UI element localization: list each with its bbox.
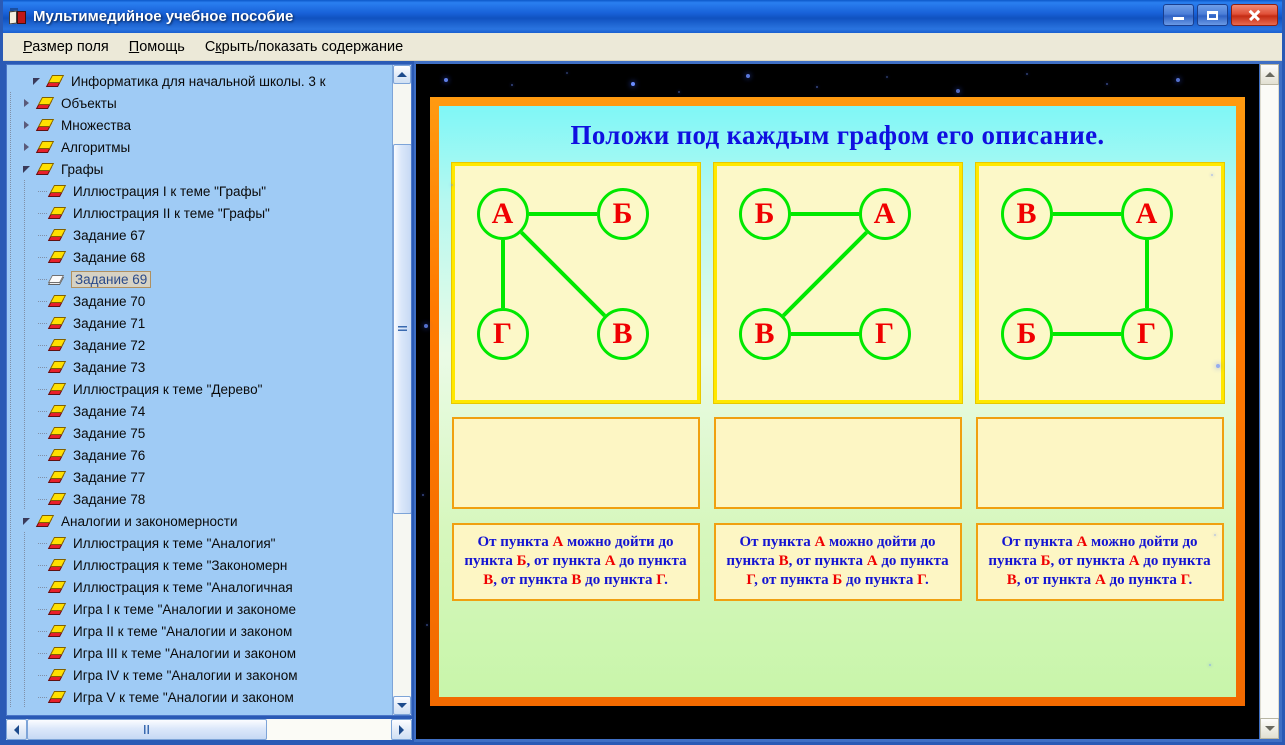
title-bar[interactable]: Мультимедийное учебное пособие [3, 0, 1282, 33]
slide-stage: Положи под каждым графом его описание. А… [416, 64, 1259, 739]
star-icon [1211, 174, 1213, 176]
tree-indent-guide [21, 180, 35, 202]
tree-indent-guide [7, 334, 21, 356]
book-closed-icon [49, 338, 66, 352]
tree-item[interactable]: Задание 76 [7, 444, 392, 466]
tree-indent-guide [21, 642, 35, 664]
tree-item[interactable]: Алгоритмы [7, 136, 392, 158]
tree-item-label: Иллюстрация II к теме "Графы" [71, 206, 272, 221]
description-point-letter: Б [832, 572, 842, 588]
content-scroll-track[interactable] [1260, 85, 1279, 718]
client-area: Информатика для начальной школы. 3 кОбъе… [3, 61, 1282, 742]
tree-item[interactable]: Информатика для начальной школы. 3 к [7, 70, 392, 92]
tree-item[interactable]: Иллюстрация к теме "Аналогия" [7, 532, 392, 554]
graph-node: А [1121, 188, 1173, 240]
graph-card[interactable]: ВАБГ [976, 163, 1224, 403]
chevron-right-icon [399, 725, 404, 735]
tree-indent-guide [7, 422, 21, 444]
star-icon [1216, 364, 1220, 368]
star-icon [631, 82, 635, 86]
book-closed-icon [49, 492, 66, 506]
tree-connector [35, 532, 49, 554]
tree-item[interactable]: Задание 71 [7, 312, 392, 334]
book-closed-icon [49, 558, 66, 572]
tree-item[interactable]: Игра I к теме "Аналогии и закономе [7, 598, 392, 620]
graph-node: А [477, 188, 529, 240]
tree-item-label: Задание 69 [71, 271, 151, 288]
tree-connector [35, 664, 49, 686]
description-point-letter: Г [746, 572, 754, 588]
tree-indent-guide [7, 136, 21, 158]
tree-indent-guide [7, 554, 21, 576]
tree-indent-guide [7, 268, 21, 290]
tree-connector [35, 246, 49, 268]
tree-scroll-right-button[interactable] [391, 719, 412, 740]
tree-indent-guide [21, 466, 35, 488]
tree-indent-guide [21, 224, 35, 246]
graph-node: Б [1001, 308, 1053, 360]
book-closed-icon [49, 382, 66, 396]
description-text: , от пункта [754, 572, 832, 588]
slide-body: Положи под каждым графом его описание. А… [439, 106, 1236, 697]
tree-item-label: Игра II к теме "Аналогии и законом [71, 624, 294, 639]
tree-item[interactable]: Задание 69 [7, 268, 392, 290]
book-closed-icon [49, 426, 66, 440]
tree-item[interactable]: Игра II к теме "Аналогии и законом [7, 620, 392, 642]
tree-item-label: Задание 77 [71, 470, 147, 485]
description-point-letter: В [571, 572, 581, 588]
tree-indent-guide [7, 532, 21, 554]
description-point-letter: Б [1041, 553, 1051, 569]
description-3[interactable]: От пункта А можно дойти до пункта Б, от … [976, 523, 1224, 601]
maximize-icon [1207, 11, 1218, 20]
star-icon [816, 86, 818, 88]
tree-item-label: Иллюстрация I к теме "Графы" [71, 184, 268, 199]
tree-connector [35, 642, 49, 664]
tree-item[interactable]: Иллюстрация к теме "Дерево" [7, 378, 392, 400]
graph-node: Г [477, 308, 529, 360]
tree-connector [35, 356, 49, 378]
tree-item[interactable]: Иллюстрация к теме "Аналогичная [7, 576, 392, 598]
tree-item-label: Игра V к теме "Аналогии и законом [71, 690, 296, 705]
tree-indent-guide [7, 158, 21, 180]
description-point-letter: А [867, 553, 878, 569]
tree-item[interactable]: Задание 77 [7, 466, 392, 488]
tree-indent-guide [7, 356, 21, 378]
menu-item-help[interactable]: Помощь [119, 36, 195, 58]
application-window: Мультимедийное учебное пособие Размер по… [0, 0, 1285, 745]
drop-zone-2[interactable] [714, 417, 962, 509]
book-icon [9, 8, 27, 26]
tree-item-label: Задание 67 [71, 228, 147, 243]
tree-connector [35, 488, 49, 510]
tree-connector [35, 554, 49, 576]
tree-indent-guide [21, 334, 35, 356]
book-closed-icon [37, 140, 54, 154]
tree-indent-guide [7, 664, 21, 686]
book-open-icon [49, 272, 66, 286]
tree-scroll-track[interactable] [393, 84, 411, 696]
tree-item[interactable]: Задание 68 [7, 246, 392, 268]
description-point-letter: Б [517, 553, 527, 569]
star-icon [1209, 664, 1211, 666]
tree-indent-guide [21, 620, 35, 642]
tree-indent-guide [21, 422, 35, 444]
description-1[interactable]: От пункта А можно дойти до пункта Б, от … [452, 523, 700, 601]
grip-icon [398, 326, 407, 333]
tree-scroll-down-button[interactable] [393, 696, 411, 715]
tree-scroll-left-button[interactable] [6, 719, 27, 740]
content-panel: Положи под каждым графом его описание. А… [414, 61, 1282, 742]
book-closed-icon [49, 316, 66, 330]
description-text: до пункта [878, 553, 949, 569]
tree-connector [35, 422, 49, 444]
book-closed-icon [49, 448, 66, 462]
book-closed-icon [37, 162, 54, 176]
tree-item-label: Множества [59, 118, 133, 133]
tree-item-label: Задание 73 [71, 360, 147, 375]
description-text: , от пункта [527, 553, 605, 569]
chevron-up-icon [1265, 72, 1275, 77]
description-text: , от пункта [789, 553, 867, 569]
tree-indent-guide [21, 664, 35, 686]
book-closed-icon [49, 250, 66, 264]
tree-item-label: Задание 72 [71, 338, 147, 353]
description-point-letter: А [1095, 572, 1106, 588]
tree-indent-guide [7, 510, 21, 532]
description-text: От пункта [739, 534, 814, 550]
menu-label-accel: Р [23, 39, 32, 55]
contents-panel: Информатика для начальной школы. 3 кОбъе… [3, 61, 414, 742]
tree-item[interactable]: Объекты [7, 92, 392, 114]
description-point-letter: Г [917, 572, 925, 588]
tree-item-label: Алгоритмы [59, 140, 132, 155]
graph-node: Г [1121, 308, 1173, 360]
tree-horizontal-scrollbar[interactable] [6, 719, 412, 740]
expander-expanded-icon[interactable] [21, 163, 34, 176]
tree-item[interactable]: Иллюстрация I к теме "Графы" [7, 180, 392, 202]
tree-indent-guide [7, 180, 21, 202]
star-icon [886, 76, 888, 78]
tree-connector [35, 378, 49, 400]
book-closed-icon [49, 580, 66, 594]
tree-indent-guide [7, 598, 21, 620]
graph-node: Г [859, 308, 911, 360]
tree-indent-guide [7, 686, 21, 708]
menu-label-post: рыть/показать содержание [222, 39, 404, 55]
tree-item[interactable]: Игра V к теме "Аналогии и законом [7, 686, 392, 708]
tree-item-label: Аналогии и закономерности [59, 514, 240, 529]
tree-indent-guide [21, 400, 35, 422]
description-text: , от пункта [1017, 572, 1095, 588]
description-text: до пункта [1140, 553, 1211, 569]
drop-zone-1[interactable] [452, 417, 700, 509]
graph-edge [783, 232, 866, 315]
description-point-letter: А [1129, 553, 1140, 569]
tree-connector [35, 224, 49, 246]
expander-collapsed-icon[interactable] [21, 97, 34, 110]
description-text: до пункта [581, 572, 656, 588]
tree-scroll-up-button[interactable] [393, 65, 411, 84]
tree-indent-guide [21, 444, 35, 466]
grip-icon [144, 725, 151, 734]
tree-indent-guide [21, 356, 35, 378]
description-point-letter: В [483, 572, 493, 588]
chevron-down-icon [397, 703, 407, 708]
tree-indent-guide [7, 224, 21, 246]
tree-indent-guide [7, 202, 21, 224]
tree-item[interactable]: Задание 70 [7, 290, 392, 312]
tree-item[interactable]: Аналогии и закономерности [7, 510, 392, 532]
star-icon [451, 184, 453, 186]
close-button[interactable] [1231, 4, 1278, 26]
star-icon [424, 324, 428, 328]
book-closed-icon [49, 294, 66, 308]
book-closed-icon [37, 118, 54, 132]
star-icon [511, 84, 513, 86]
star-icon [566, 72, 568, 74]
tree-item[interactable]: Задание 67 [7, 224, 392, 246]
tree-item[interactable]: Множества [7, 114, 392, 136]
book-closed-icon [49, 690, 66, 704]
description-text: От пункта [1001, 534, 1076, 550]
tree-indent-guide [7, 466, 21, 488]
tree-item-label: Иллюстрация к теме "Аналогия" [71, 536, 277, 551]
menu-label-accel: П [129, 39, 139, 55]
tree-view[interactable]: Информатика для начальной школы. 3 кОбъе… [6, 64, 412, 716]
tree-connector [35, 180, 49, 202]
book-closed-icon [47, 74, 64, 88]
tree-connector [35, 312, 49, 334]
chevron-left-icon [14, 725, 19, 735]
tree-item[interactable]: Иллюстрация II к теме "Графы" [7, 202, 392, 224]
drop-zones-row [451, 417, 1224, 509]
menu-item-toggle-contents[interactable]: Скрыть/показать содержание [195, 36, 413, 58]
tree-scroll-thumb[interactable] [393, 144, 412, 514]
tree-item[interactable]: Задание 72 [7, 334, 392, 356]
tree-indent-guide [21, 532, 35, 554]
book-closed-icon [49, 624, 66, 638]
expander-expanded-icon[interactable] [21, 515, 34, 528]
minimize-button[interactable] [1163, 4, 1194, 26]
tree-item-label: Графы [59, 162, 105, 177]
description-point-letter: В [1007, 572, 1017, 588]
book-closed-icon [49, 646, 66, 660]
description-point-letter: В [779, 553, 789, 569]
tree-connector [35, 598, 49, 620]
tree-item[interactable]: Игра IV к теме "Аналогии и законом [7, 664, 392, 686]
chevron-down-icon [1265, 726, 1275, 731]
tree-connector [35, 620, 49, 642]
tree-item-label: Задание 70 [71, 294, 147, 309]
tree-connector [35, 334, 49, 356]
graph-card[interactable]: АБГВ [452, 163, 700, 403]
tree-vertical-scrollbar[interactable] [392, 65, 411, 715]
menu-label-post: омощь [139, 39, 185, 55]
star-icon [1176, 78, 1180, 82]
tree-connector [35, 444, 49, 466]
menu-item-field-size[interactable]: Размер поля [13, 36, 119, 58]
tree-item[interactable]: Иллюстрация к теме "Закономерн [7, 554, 392, 576]
tree-hscroll-thumb[interactable] [27, 719, 267, 740]
star-icon [444, 78, 448, 82]
star-icon [956, 89, 960, 93]
tree-indent-guide [21, 268, 35, 290]
tree-item[interactable]: Задание 75 [7, 422, 392, 444]
star-icon [1214, 534, 1216, 536]
description-text: до пункта [616, 553, 687, 569]
description-point-letter: А [605, 553, 616, 569]
tree-item[interactable]: Графы [7, 158, 392, 180]
tree-connector [35, 202, 49, 224]
descriptions-row: От пункта А можно дойти до пункта Б, от … [451, 523, 1224, 601]
content-scroll-down-button[interactable] [1260, 718, 1279, 739]
description-point-letter: А [814, 534, 825, 550]
graph-node: В [739, 308, 791, 360]
expander-expanded-icon[interactable] [31, 75, 44, 88]
star-icon [746, 74, 750, 78]
description-text: , от пункта [493, 572, 571, 588]
tree-indent-guide [21, 378, 35, 400]
tree-indent-guide [7, 290, 21, 312]
tree-indent-guide [7, 246, 21, 268]
tree-item-label: Задание 71 [71, 316, 147, 331]
tree-indent-guide [21, 598, 35, 620]
tree-item-label: Задание 68 [71, 250, 147, 265]
tree-connector [35, 290, 49, 312]
graphs-row: АБГВБАВГВАБГ [451, 163, 1224, 403]
maximize-button[interactable] [1197, 4, 1228, 26]
tree-indent-guide [21, 202, 35, 224]
tree-indent-guide [7, 114, 21, 136]
drop-zone-3[interactable] [976, 417, 1224, 509]
tree-connector [35, 576, 49, 598]
tree-item[interactable]: Задание 74 [7, 400, 392, 422]
tree-item[interactable]: Задание 78 [7, 488, 392, 510]
description-point-letter: А [1076, 534, 1087, 550]
close-icon [1248, 10, 1261, 21]
description-point-letter: Г [656, 572, 664, 588]
tree-connector [35, 268, 49, 290]
star-icon [1106, 83, 1108, 85]
book-closed-icon [49, 470, 66, 484]
graph-edge [521, 232, 604, 315]
menu-label-post: азмер поля [32, 39, 109, 55]
star-icon [426, 624, 428, 626]
tree-item[interactable]: Игра III к теме "Аналогии и законом [7, 642, 392, 664]
star-icon [678, 91, 680, 93]
tree-indent-guide [7, 400, 21, 422]
graph-node: В [597, 308, 649, 360]
tree-indent-guide [7, 378, 21, 400]
tree-indent-guide [21, 312, 35, 334]
tree-item-label: Информатика для начальной школы. 3 к [69, 74, 328, 89]
tree-scroll-region[interactable]: Информатика для начальной школы. 3 кОбъе… [7, 65, 392, 715]
book-closed-icon [49, 602, 66, 616]
tree-indent-guide [7, 576, 21, 598]
tree-indent-guide [21, 554, 35, 576]
description-2[interactable]: От пункта А можно дойти до пункта В, от … [714, 523, 962, 601]
tree-connector [35, 466, 49, 488]
tree-indent-guide [21, 488, 35, 510]
slide-frame: Положи под каждым графом его описание. А… [430, 97, 1245, 706]
tree-indent-guide [7, 92, 21, 114]
tree-indent-guide [21, 576, 35, 598]
description-text: до пункта [1106, 572, 1181, 588]
tree-item-label: Иллюстрация к теме "Дерево" [71, 382, 264, 397]
tree-indent-guide [21, 686, 35, 708]
tree-item-label: Игра IV к теме "Аналогии и законом [71, 668, 300, 683]
tree-item-label: Задание 74 [71, 404, 147, 419]
book-closed-icon [37, 514, 54, 528]
tree-item[interactable]: Задание 73 [7, 356, 392, 378]
tree-indent-guide [7, 444, 21, 466]
graph-node: Б [739, 188, 791, 240]
tree-item-label: Игра I к теме "Аналогии и закономе [71, 602, 298, 617]
tree-hscroll-track[interactable] [27, 719, 391, 740]
description-text: до пункта [842, 572, 917, 588]
chevron-up-icon [397, 72, 407, 77]
description-text: . [1188, 572, 1192, 588]
tree-item-label: Иллюстрация к теме "Аналогичная [71, 580, 295, 595]
menu-bar: Размер поля Помощь Скрыть/показать содер… [3, 33, 1282, 61]
description-point-letter: А [552, 534, 563, 550]
graph-card[interactable]: БАВГ [714, 163, 962, 403]
minimize-icon [1173, 17, 1184, 20]
tree-item-label: Игра III к теме "Аналогии и законом [71, 646, 298, 661]
tree-item-label: Задание 76 [71, 448, 147, 463]
book-closed-icon [49, 404, 66, 418]
tree-indent-guide [21, 290, 35, 312]
book-closed-icon [49, 228, 66, 242]
star-icon [422, 494, 424, 496]
tree-item-label: Объекты [59, 96, 119, 111]
tree-item-label: Иллюстрация к теме "Закономерн [71, 558, 289, 573]
tree-indent-guide [7, 488, 21, 510]
tree-indent-guide [7, 620, 21, 642]
menu-label-pre: С [205, 39, 215, 55]
tree-item-label: Задание 78 [71, 492, 147, 507]
book-closed-icon [49, 536, 66, 550]
expander-collapsed-icon[interactable] [21, 141, 34, 154]
book-closed-icon [49, 668, 66, 682]
book-closed-icon [49, 360, 66, 374]
window-controls [1163, 4, 1278, 26]
tree-connector [35, 686, 49, 708]
tree-indent-guide [7, 312, 21, 334]
description-text: , от пункта [1051, 553, 1129, 569]
description-text: От пункта [477, 534, 552, 550]
tree-indent-guide [7, 642, 21, 664]
graph-node: В [1001, 188, 1053, 240]
book-closed-icon [49, 206, 66, 220]
tree-item-label: Задание 75 [71, 426, 147, 441]
book-closed-icon [49, 184, 66, 198]
expander-collapsed-icon[interactable] [21, 119, 34, 132]
slide-title: Положи под каждым графом его описание. [451, 120, 1224, 151]
content-scroll-up-button[interactable] [1260, 64, 1279, 85]
tree-connector [35, 400, 49, 422]
content-vertical-scrollbar[interactable] [1260, 64, 1279, 739]
graph-node: А [859, 188, 911, 240]
book-closed-icon [37, 96, 54, 110]
graph-node: Б [597, 188, 649, 240]
description-text: . [925, 572, 929, 588]
description-text: . [664, 572, 668, 588]
star-icon [1026, 73, 1028, 75]
window-title: Мультимедийное учебное пособие [33, 8, 293, 25]
tree-indent-guide [21, 246, 35, 268]
